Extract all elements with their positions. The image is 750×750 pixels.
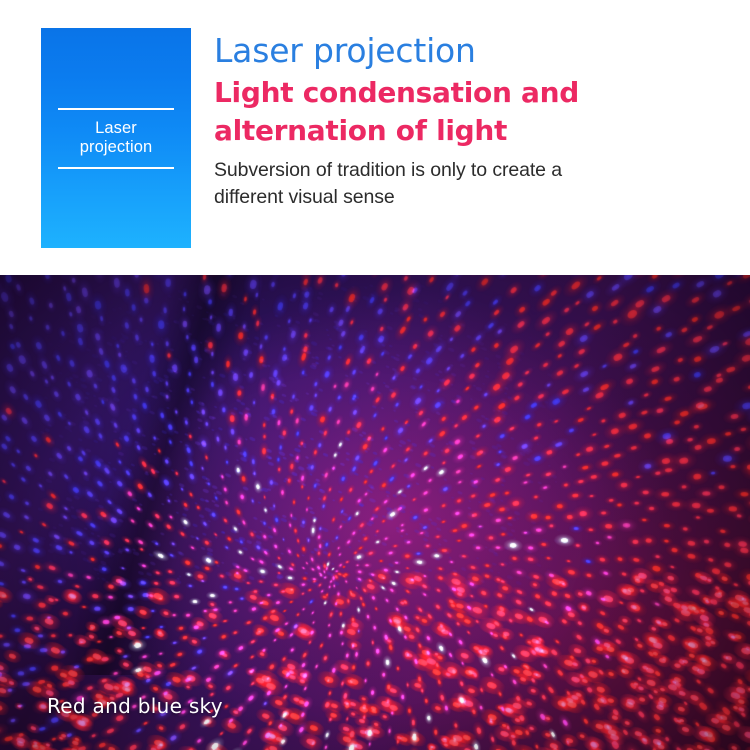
headline-block: Laser projection Light condensation and … [214, 30, 734, 211]
subtitle-line-2: alternation of light [214, 112, 734, 149]
subtitle-line-1: Light condensation and [214, 74, 734, 111]
page-title: Laser projection [214, 30, 734, 71]
photo-caption: Red and blue sky [47, 694, 223, 718]
badge-rule-bottom [58, 167, 174, 169]
header-section: Laser projection Laser projection Light … [0, 0, 750, 275]
description-line-2: different visual sense [214, 184, 734, 211]
laser-dot-field [0, 275, 750, 750]
description-line-1: Subversion of tradition is only to creat… [214, 157, 734, 184]
product-feature-banner: Laser projection Laser projection Light … [0, 0, 750, 750]
laser-projection-badge: Laser projection [41, 28, 191, 248]
badge-label: Laser projection [80, 110, 153, 167]
product-photo: Red and blue sky [0, 275, 750, 750]
